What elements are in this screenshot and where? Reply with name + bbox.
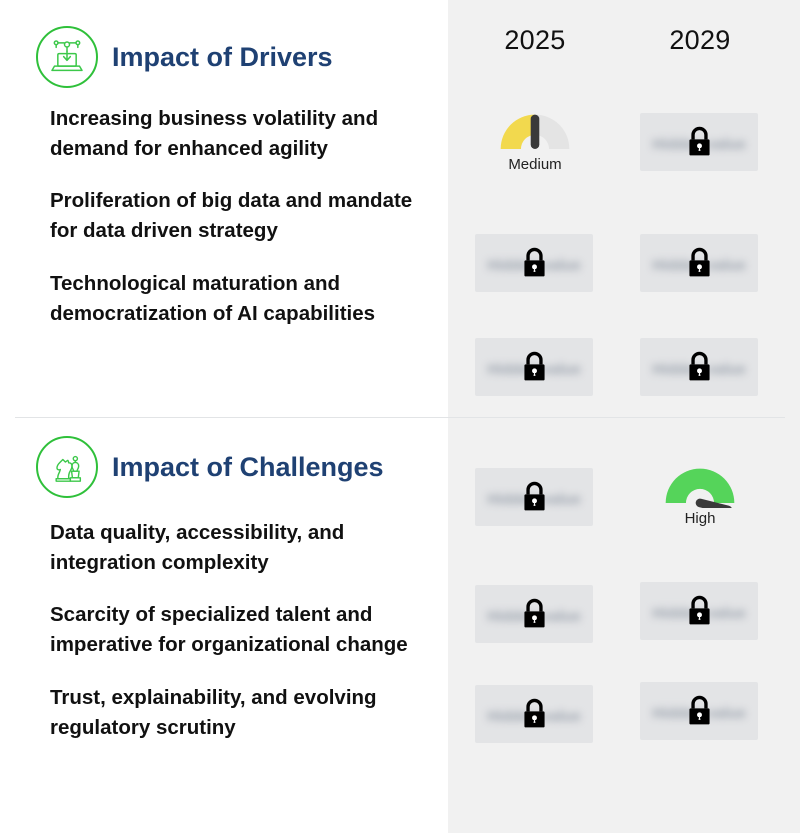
locked-cell[interactable]: Hidden value	[640, 582, 758, 640]
gauge-label-high: High	[685, 510, 716, 527]
value-challenges-r3-2025[interactable]: Hidden value	[475, 685, 595, 743]
value-drivers-r3-2025[interactable]: Hidden value	[475, 338, 595, 396]
padlock-icon	[684, 350, 715, 384]
padlock-icon	[684, 125, 715, 159]
gauge-medium: Medium	[475, 108, 595, 173]
gauge-dial	[661, 462, 739, 508]
gauge-label-medium: Medium	[508, 156, 561, 173]
column-header-2025: 2025	[475, 25, 595, 56]
locked-cell[interactable]: Hidden value	[640, 234, 758, 292]
chess-pieces-icon	[36, 436, 98, 498]
section-divider	[15, 417, 785, 418]
driver-bullet-3: Technological maturation and democratiza…	[50, 269, 420, 329]
section-header-challenges: Impact of Challenges	[36, 436, 384, 498]
padlock-icon	[519, 597, 550, 631]
padlock-icon	[519, 697, 550, 731]
locked-cell[interactable]: Hidden value	[475, 338, 593, 396]
driver-bullet-2: Proliferation of big data and mandate fo…	[50, 186, 420, 246]
value-drivers-r3-2029[interactable]: Hidden value	[640, 338, 760, 396]
value-drivers-r2-2029[interactable]: Hidden value	[640, 234, 760, 292]
locked-cell[interactable]: Hidden value	[475, 685, 593, 743]
value-challenges-r2-2025[interactable]: Hidden value	[475, 585, 595, 643]
challenge-bullet-1: Data quality, accessibility, and integra…	[50, 518, 420, 578]
section-header-drivers: Impact of Drivers	[36, 26, 333, 88]
locked-cell[interactable]: Hidden value	[475, 585, 593, 643]
locked-cell[interactable]: Hidden value	[640, 113, 758, 171]
locked-cell[interactable]: Hidden value	[475, 234, 593, 292]
value-drivers-r1-2029[interactable]: Hidden value	[640, 113, 760, 171]
locked-cell[interactable]: Hidden value	[475, 468, 593, 526]
impact-matrix-page: 2025 2029 Impact of Drivers	[0, 0, 800, 833]
padlock-icon	[684, 246, 715, 280]
section-title-drivers: Impact of Drivers	[112, 42, 333, 73]
gauge-high: High	[640, 462, 760, 527]
driver-bullet-1: Increasing business volatility and deman…	[50, 104, 420, 164]
padlock-icon	[684, 594, 715, 628]
column-header-2029: 2029	[640, 25, 760, 56]
value-challenges-r2-2029[interactable]: Hidden value	[640, 582, 760, 640]
challenge-bullets: Data quality, accessibility, and integra…	[50, 518, 420, 765]
value-drivers-r1-2025[interactable]: Medium	[475, 108, 595, 173]
locked-cell[interactable]: Hidden value	[640, 338, 758, 396]
padlock-icon	[519, 246, 550, 280]
challenge-bullet-3: Trust, explainability, and evolving regu…	[50, 683, 420, 743]
driver-bullets: Increasing business volatility and deman…	[50, 104, 420, 351]
value-drivers-r2-2025[interactable]: Hidden value	[475, 234, 595, 292]
section-title-challenges: Impact of Challenges	[112, 452, 384, 483]
padlock-icon	[519, 480, 550, 514]
gauge-dial	[496, 108, 574, 154]
laptop-download-network-icon	[36, 26, 98, 88]
value-challenges-r3-2029[interactable]: Hidden value	[640, 682, 760, 740]
value-challenges-r1-2029[interactable]: High	[640, 462, 760, 527]
locked-cell[interactable]: Hidden value	[640, 682, 758, 740]
padlock-icon	[684, 694, 715, 728]
padlock-icon	[519, 350, 550, 384]
value-challenges-r1-2025[interactable]: Hidden value	[475, 468, 595, 526]
challenge-bullet-2: Scarcity of specialized talent and imper…	[50, 600, 420, 660]
